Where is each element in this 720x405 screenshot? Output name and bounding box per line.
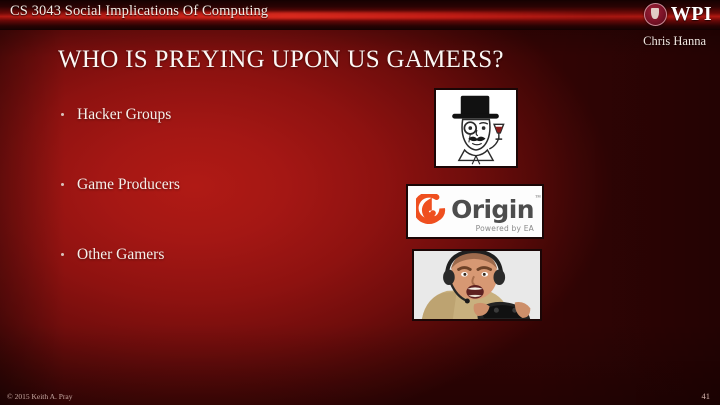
wpi-logo: WPI [644, 1, 712, 27]
bullet-dot-icon [61, 183, 64, 186]
angry-gamer-photo [412, 249, 542, 321]
page-title: WHO IS PREYING UPON US GAMERS? [58, 46, 504, 74]
like-a-sir-meme-image [434, 88, 518, 168]
trademark-symbol: ™ [535, 195, 541, 201]
slide-header: CS 3043 Social Implications Of Computing… [0, 0, 720, 30]
bullet-list: Hacker Groups Game Producers Other Gamer… [58, 106, 378, 316]
origin-swirl-icon [416, 194, 446, 226]
origin-tagline: Powered by EA [476, 224, 534, 233]
list-item: Game Producers [58, 176, 378, 246]
list-item: Hacker Groups [58, 106, 378, 176]
course-title: CS 3043 Social Implications Of Computing [10, 3, 268, 20]
bullet-dot-icon [61, 253, 64, 256]
meme-drawing [436, 90, 516, 166]
list-item: Other Gamers [58, 246, 378, 316]
presentation-slide: CS 3043 Social Implications Of Computing… [0, 0, 720, 405]
gamer-photo-drawing [414, 251, 540, 319]
list-item-label: Other Gamers [77, 246, 164, 263]
list-item-label: Game Producers [77, 176, 180, 193]
origin-wordmark: Origin [451, 197, 534, 222]
copyright-notice: © 2015 Keith A. Pray [7, 392, 73, 401]
origin-logo-image: Origin ™ Powered by EA [406, 184, 544, 239]
bullet-dot-icon [61, 113, 64, 116]
wpi-wordmark: WPI [671, 4, 712, 24]
wpi-seal-icon [644, 3, 667, 26]
slide-number: 41 [702, 391, 711, 401]
author-name: Chris Hanna [643, 34, 706, 49]
origin-lockup: Origin ™ [416, 194, 534, 226]
list-item-label: Hacker Groups [77, 106, 171, 123]
